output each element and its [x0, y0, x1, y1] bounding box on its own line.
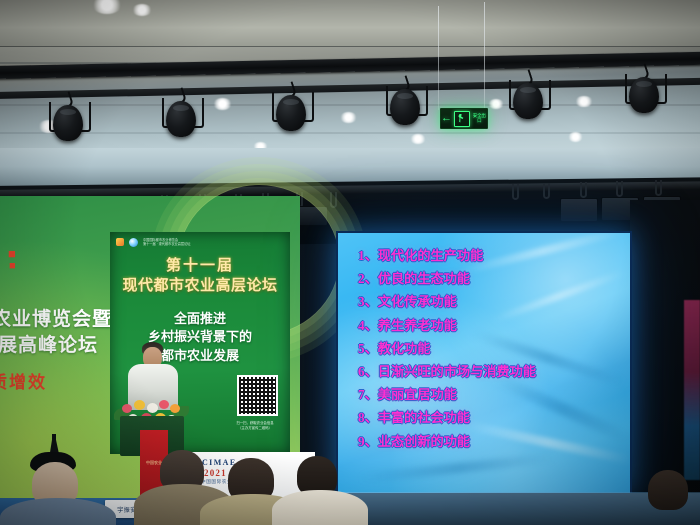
- slide-item: 7、美丽宜居功能: [358, 388, 622, 401]
- downlight: [488, 99, 504, 109]
- flower: [134, 400, 145, 410]
- slide-item: 4、养生养老功能: [358, 319, 622, 332]
- forum-subtitle-line1: 全面推进: [174, 311, 226, 326]
- green-banner-accent-mark: ■: [8, 246, 16, 261]
- green-banner-line1: 农业博览会暨: [0, 304, 112, 331]
- light-lens: [173, 105, 189, 111]
- slide-bullet-list: 1、现代化的生产功能 2、优良的生态功能 3、文化传承功能 4、养生养老功能 5…: [358, 249, 622, 458]
- stage-monitor-speaker: [560, 198, 598, 222]
- par-can-light: [508, 70, 548, 122]
- slide-item: 2、优良的生态功能: [358, 272, 622, 285]
- light-lens: [60, 109, 76, 115]
- green-banner-accent-mark-2: ■: [9, 260, 16, 272]
- slide-item: 1、现代化的生产功能: [358, 249, 622, 262]
- par-can-light: [385, 76, 425, 128]
- running-man-exit-icon: [454, 111, 470, 127]
- qr-caption-line2: （主办方宣传二维码）: [238, 426, 272, 430]
- downlight: [410, 134, 426, 144]
- rig-hook-icon: [330, 192, 337, 208]
- green-banner-line2: 发展高峰论坛: [0, 330, 98, 357]
- downlight: [340, 112, 357, 123]
- qr-code-pattern: [239, 377, 276, 414]
- light-lens: [636, 81, 652, 87]
- forum-title-line1: 第十一届: [110, 254, 290, 275]
- ceiling-seam: [0, 104, 700, 106]
- par-can-light: [48, 92, 88, 144]
- slide-item: 3、文化传承功能: [358, 295, 622, 308]
- flower: [159, 400, 169, 409]
- exit-arrow-icon: ←: [441, 113, 452, 124]
- forum-logo-icon: [129, 238, 138, 247]
- downlight: [575, 96, 593, 107]
- flower: [170, 404, 180, 413]
- banner-header-row: 中国国际都市农业博览会 第十一届 · 现代都市农业高层论坛: [116, 235, 284, 249]
- flower: [122, 404, 132, 413]
- par-can-light: [161, 88, 201, 140]
- rig-hook-icon: [543, 183, 550, 199]
- flower: [147, 403, 158, 413]
- rig-hook-icon: [655, 180, 662, 196]
- ceiling-seam: [0, 132, 700, 134]
- expo-logo-icon: [116, 238, 124, 246]
- green-banner-line3: 质增效: [0, 368, 47, 393]
- emergency-exit-sign: ← 安全出口: [440, 108, 488, 129]
- slide-item: 5、教化功能: [358, 342, 622, 355]
- par-can-light: [624, 64, 664, 116]
- suspension-wire: [438, 6, 439, 110]
- audience-head: [648, 470, 688, 510]
- forum-subtitle-line3: 都市农业发展: [161, 348, 239, 363]
- rig-hook-icon: [616, 181, 623, 197]
- forum-subtitle-line2: 乡村振兴背景下的: [148, 329, 252, 344]
- light-lens: [520, 87, 536, 93]
- rig-hook-icon: [512, 184, 519, 200]
- qr-code: [237, 375, 278, 416]
- banner-header-line2: 第十一届 · 现代都市农业高层论坛: [143, 242, 190, 246]
- par-can-light: [271, 82, 311, 134]
- light-lens: [397, 93, 413, 99]
- presentation-screen: 1、现代化的生产功能 2、优良的生态功能 3、文化传承功能 4、养生养老功能 5…: [338, 233, 630, 493]
- light-lens: [283, 99, 299, 105]
- forum-subtitle: 全面推进 乡村振兴背景下的 都市农业发展: [110, 310, 290, 365]
- slide-item: 8、丰富的社会功能: [358, 411, 622, 424]
- cimae-year: 2021: [204, 468, 227, 478]
- qr-caption: 扫一扫，获取农业会信息 （主办方宣传二维码）: [226, 421, 284, 430]
- audience-shoulders: [272, 490, 368, 525]
- banner-header-text: 中国国际都市农业博览会 第十一届 · 现代都市农业高层论坛: [143, 238, 190, 246]
- downlight: [213, 98, 232, 110]
- qr-caption-line1: 扫一扫，获取农业会信息: [236, 421, 273, 425]
- slide-item: 9、业态创新的功能: [358, 435, 622, 448]
- right-wall-light-strip: [684, 300, 700, 480]
- downlight: [568, 132, 583, 142]
- forum-title-line2: 现代都市农业高层论坛: [110, 274, 290, 295]
- slide-item: 6、日渐兴旺的市场与消费功能: [358, 365, 622, 378]
- conference-hall-photo: ← 安全出口 ■ ■ 农业博览会暨 发展高峰论坛 质增效 中国国际都市农: [0, 0, 700, 525]
- exit-sign-label: 安全出口: [472, 114, 487, 123]
- rig-hook-icon: [580, 182, 587, 198]
- downlight: [132, 4, 152, 16]
